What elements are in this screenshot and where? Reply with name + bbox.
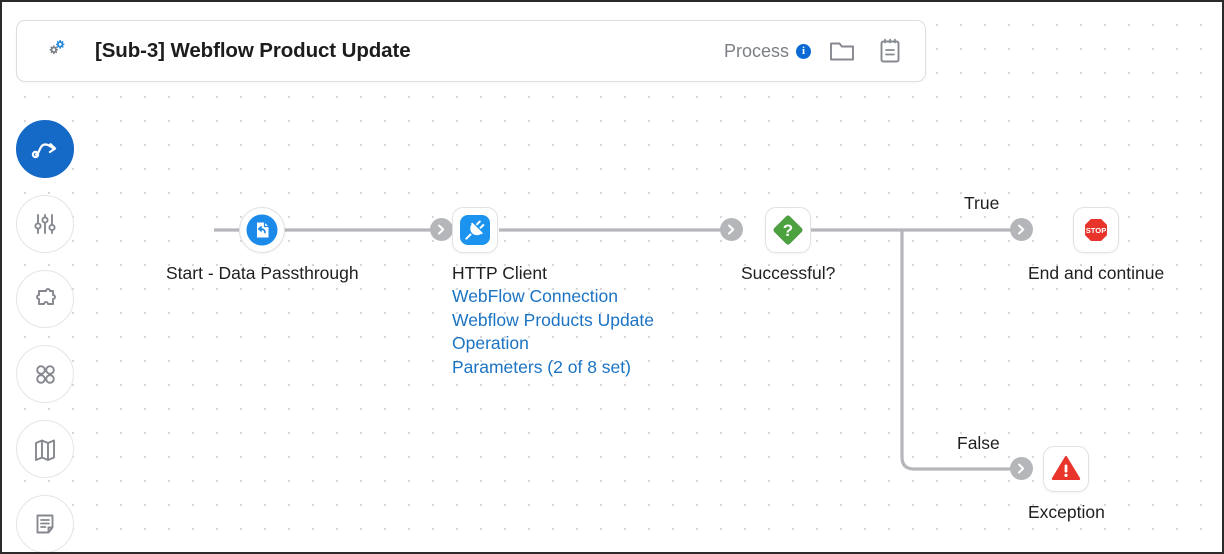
info-icon[interactable]: i (796, 44, 811, 59)
node-decision[interactable]: ? Successful? (741, 207, 835, 284)
node-start-shape[interactable] (239, 207, 285, 253)
process-type-label: Process (724, 41, 789, 62)
gears-icon (17, 37, 83, 65)
page-title: [Sub-3] Webflow Product Update (83, 39, 724, 63)
document-icon (30, 509, 60, 539)
svg-text:STOP: STOP (1086, 226, 1107, 235)
four-circles-icon (30, 359, 60, 389)
node-exception[interactable]: Exception (1028, 446, 1105, 523)
node-exception-shape[interactable] (1043, 446, 1089, 492)
connector-arrow-to-decision[interactable] (720, 218, 743, 241)
process-type: Process i (724, 41, 811, 62)
branch-label-false: False (957, 433, 1000, 454)
tool-rail (16, 120, 74, 553)
header-actions: Process i (724, 34, 925, 68)
sidebar-item-plugins[interactable] (16, 270, 74, 328)
folder-icon[interactable] (825, 34, 859, 68)
node-end-continue-label: End and continue (1028, 263, 1164, 284)
puzzle-piece-icon (30, 284, 60, 314)
sidebar-item-notes[interactable] (16, 495, 74, 553)
sliders-icon (30, 209, 60, 239)
plug-icon (456, 211, 494, 249)
node-http-client-label: HTTP Client (452, 263, 547, 284)
node-start-label: Start - Data Passthrough (166, 263, 359, 284)
green-diamond-question-icon: ? (769, 211, 807, 249)
node-http-client[interactable]: HTTP Client WebFlow Connection Webflow P… (451, 207, 654, 379)
warning-triangle-icon (1047, 450, 1085, 488)
map-icon (30, 434, 60, 464)
node-exception-label: Exception (1028, 502, 1105, 523)
branch-label-true: True (964, 193, 999, 214)
workflow-designer: [Sub-3] Webflow Product Update Process i (0, 0, 1224, 554)
sidebar-item-components[interactable] (16, 345, 74, 403)
node-end-continue-shape[interactable]: STOP (1073, 207, 1119, 253)
process-header-card: [Sub-3] Webflow Product Update Process i (16, 20, 926, 82)
sidebar-item-settings[interactable] (16, 195, 74, 253)
node-http-client-links: WebFlow Connection Webflow Products Upda… (452, 285, 654, 379)
node-link-operation-name[interactable]: Webflow Products Update (452, 309, 654, 333)
node-link-operation[interactable]: Operation (452, 332, 529, 356)
node-end-continue[interactable]: STOP End and continue (1028, 207, 1164, 284)
node-decision-label: Successful? (741, 263, 835, 284)
document-start-icon (243, 211, 281, 249)
flow-arrow-icon (29, 134, 61, 164)
node-decision-shape[interactable]: ? (765, 207, 811, 253)
node-start[interactable]: Start - Data Passthrough (166, 207, 359, 284)
node-link-parameters[interactable]: Parameters (2 of 8 set) (452, 356, 631, 380)
node-http-client-shape[interactable] (452, 207, 498, 253)
notepad-icon[interactable] (873, 34, 907, 68)
stop-sign-icon: STOP (1077, 211, 1115, 249)
sidebar-item-map[interactable] (16, 420, 74, 478)
sidebar-item-flow[interactable] (16, 120, 74, 178)
node-link-connection[interactable]: WebFlow Connection (452, 285, 618, 309)
connector-arrow-to-http[interactable] (430, 218, 453, 241)
svg-text:?: ? (783, 221, 793, 240)
